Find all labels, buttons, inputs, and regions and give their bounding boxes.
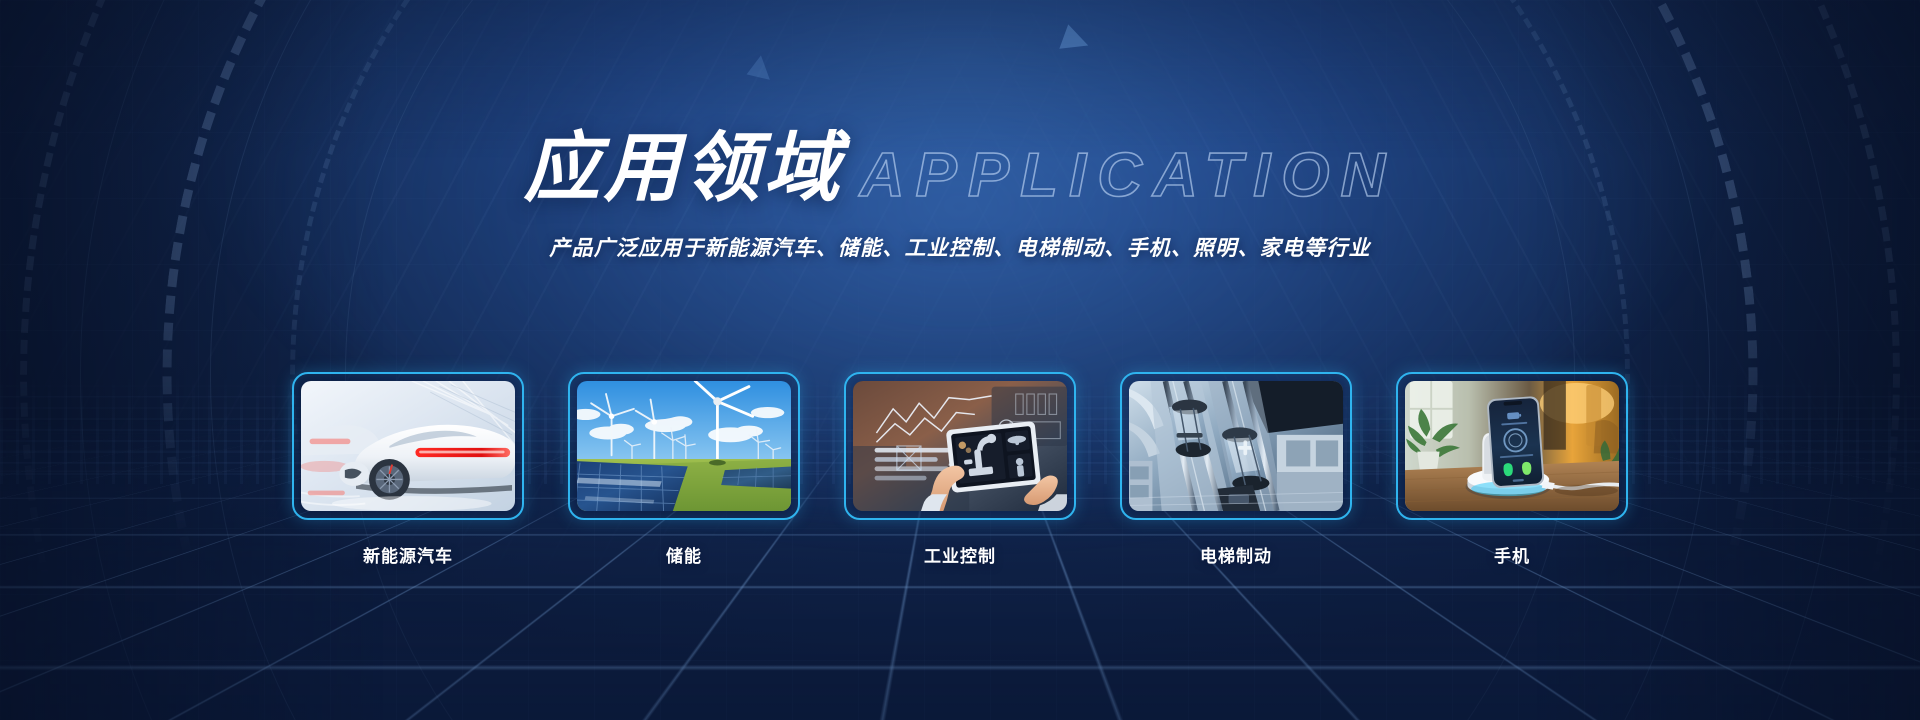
card-frame [1120,372,1352,520]
card-label: 工业控制 [924,542,996,567]
application-banner: 应用领域 APPLICATION 产品广泛应用于新能源汽车、储能、工业控制、电梯… [0,0,1920,720]
smartphone-wireless-charger-photo [1405,381,1619,511]
card-frame [1396,372,1628,520]
card-frame [568,372,800,520]
application-card[interactable]: 手机 [1396,372,1628,567]
card-label: 电梯制动 [1200,542,1272,567]
card-frame [292,372,524,520]
card-frame [844,372,1076,520]
industrial-tablet-robot-arm-photo [853,381,1067,511]
application-card[interactable]: 电梯制动 [1120,372,1352,567]
card-label: 储能 [666,542,702,567]
solar-panels-wind-turbines-photo [577,381,791,511]
glass-elevators-photo [1129,381,1343,511]
application-card[interactable]: 工业控制 [844,372,1076,567]
ev-sports-car-photo [301,381,515,511]
card-label: 手机 [1494,542,1530,567]
application-card[interactable]: 储能 [568,372,800,567]
application-card[interactable]: 新能源汽车 [292,372,524,567]
card-label: 新能源汽车 [363,542,453,567]
application-card-list: 新能源汽车 [0,372,1920,567]
